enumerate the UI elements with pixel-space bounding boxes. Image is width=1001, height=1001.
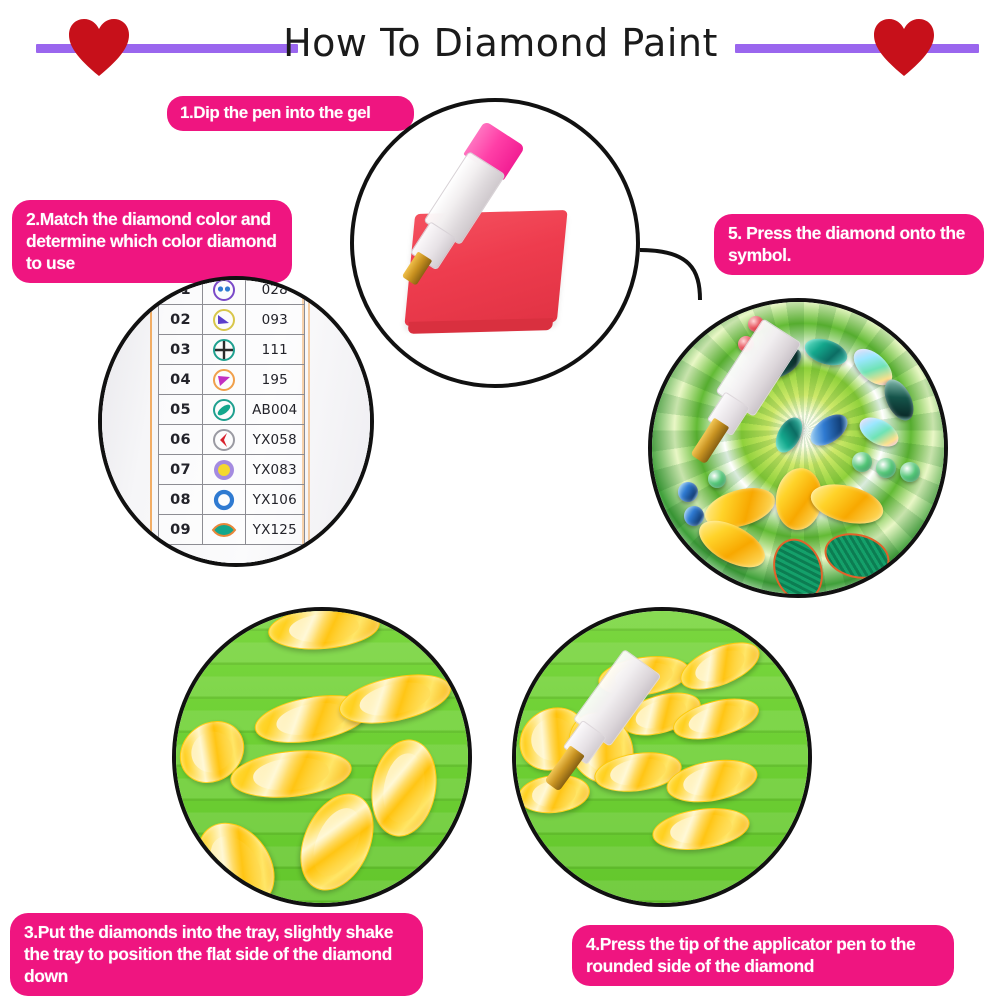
mandala-canvas-scene bbox=[652, 302, 944, 594]
triangle-in-circle-symbol-icon bbox=[203, 365, 245, 395]
table-row: 04 195 bbox=[159, 365, 305, 395]
step-5-image bbox=[648, 298, 948, 598]
chart-row-code: YX106 bbox=[245, 485, 304, 515]
ring-symbol-icon bbox=[203, 485, 245, 515]
chart-row-number: 09 bbox=[159, 515, 203, 545]
leaf-symbol-icon bbox=[203, 515, 245, 545]
diamond-gem bbox=[876, 458, 896, 478]
table-row: 03 111 bbox=[159, 335, 305, 365]
color-chart-scene: 01 028 02 bbox=[102, 280, 370, 563]
step-3-image bbox=[172, 607, 472, 907]
pen-in-gel-scene bbox=[354, 102, 636, 384]
slash-oval-in-circle-symbol-icon bbox=[203, 395, 245, 425]
step-2-label: 2.Match the diamond color and determine … bbox=[12, 200, 292, 283]
chart-row-code: 111 bbox=[245, 335, 304, 365]
diamond-gem bbox=[684, 506, 704, 526]
chart-row-code: 028 bbox=[245, 276, 304, 305]
diamond-gem bbox=[900, 462, 920, 482]
chart-row-number: 08 bbox=[159, 485, 203, 515]
step-1-image bbox=[350, 98, 640, 388]
step-5-label: 5. Press the diamond onto the symbol. bbox=[714, 214, 984, 275]
diamond-gem bbox=[678, 482, 698, 502]
plus-in-circle-symbol-icon bbox=[203, 335, 245, 365]
chart-row-code: 093 bbox=[245, 305, 304, 335]
step-3-label: 3.Put the diamonds into the tray, slight… bbox=[10, 913, 423, 996]
table-row: 05 AB004 bbox=[159, 395, 305, 425]
table-row: 07 YX083 bbox=[159, 455, 305, 485]
diamond-gem bbox=[852, 452, 872, 472]
step-2-image: 01 028 02 bbox=[98, 276, 374, 567]
chart-row-code: YX125 bbox=[245, 515, 304, 545]
page-title: How To Diamond Paint bbox=[0, 17, 1001, 69]
pen-pickup-scene bbox=[516, 611, 808, 903]
table-row: 01 028 bbox=[159, 276, 305, 305]
color-chart-table: 01 028 02 bbox=[158, 276, 305, 545]
chart-row-number: 02 bbox=[159, 305, 203, 335]
chart-row-number: 04 bbox=[159, 365, 203, 395]
chart-row-number: 07 bbox=[159, 455, 203, 485]
double-dot-circle-symbol-icon bbox=[203, 276, 245, 305]
triangle-in-circle-symbol-icon bbox=[203, 305, 245, 335]
chart-row-code: 195 bbox=[245, 365, 304, 395]
chart-row-number: 06 bbox=[159, 425, 203, 455]
chart-row-number: 01 bbox=[159, 276, 203, 305]
step-4-image bbox=[512, 607, 812, 907]
table-row: 08 YX106 bbox=[159, 485, 305, 515]
chart-row-code: YX058 bbox=[245, 425, 304, 455]
diamond-gem bbox=[708, 470, 726, 488]
table-row: 02 093 bbox=[159, 305, 305, 335]
chart-row-code: AB004 bbox=[245, 395, 304, 425]
page-header: How To Diamond Paint bbox=[0, 0, 1001, 92]
filled-dot-in-circle-symbol-icon bbox=[203, 455, 245, 485]
left-arrow-in-circle-symbol-icon bbox=[203, 425, 245, 455]
chart-row-number: 05 bbox=[159, 395, 203, 425]
chart-row-code: YX083 bbox=[245, 455, 304, 485]
table-row: 06 YX058 bbox=[159, 425, 305, 455]
chart-row-number: 03 bbox=[159, 335, 203, 365]
diamond-tray-scene bbox=[176, 611, 468, 903]
step-4-label: 4.Press the tip of the applicator pen to… bbox=[572, 925, 954, 986]
table-row: 09 YX125 bbox=[159, 515, 305, 545]
